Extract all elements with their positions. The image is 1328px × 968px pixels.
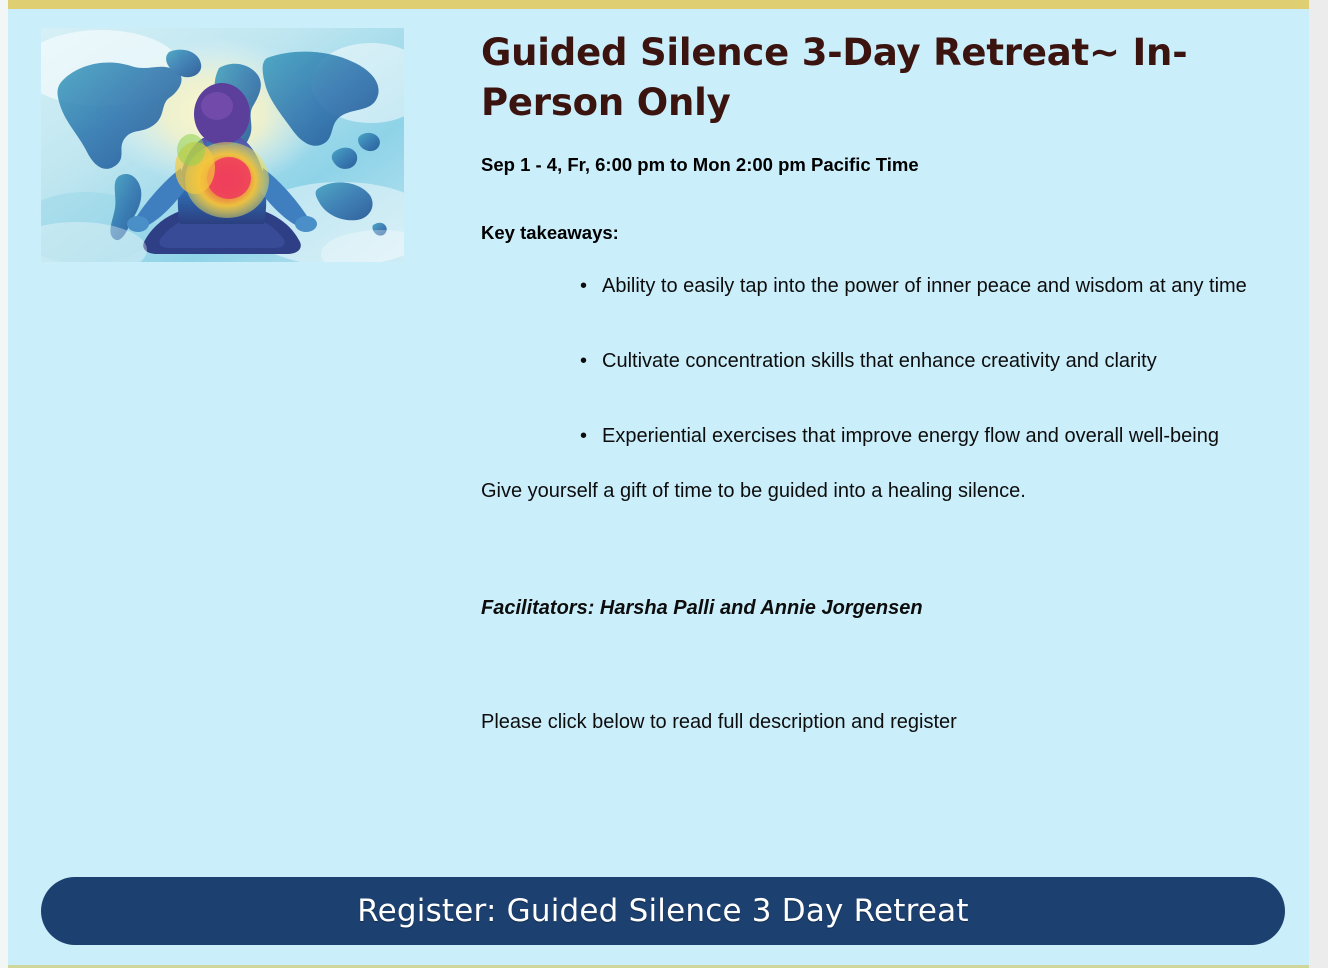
- list-item-text: Cultivate concentration skills that enha…: [602, 350, 1157, 372]
- event-dateline: Sep 1 - 4, Fr, 6:00 pm to Mon 2:00 pm Pa…: [481, 153, 1281, 177]
- event-content-column: Guided Silence 3-Day Retreat~ In-Person …: [481, 28, 1281, 736]
- click-below-note: Please click below to read full descript…: [481, 708, 1281, 736]
- list-item: • Experiential exercises that improve en…: [481, 417, 1281, 455]
- left-edge-strip: [0, 0, 8, 968]
- email-newsletter-page: Guided Silence 3-Day Retreat~ In-Person …: [0, 0, 1328, 968]
- bullet-icon: •: [580, 342, 587, 380]
- top-accent-bar: [8, 0, 1309, 9]
- register-button[interactable]: Register: Guided Silence 3 Day Retreat: [41, 877, 1285, 945]
- list-item: • Cultivate concentration skills that en…: [481, 342, 1281, 380]
- list-item-text: Ability to easily tap into the power of …: [602, 275, 1247, 297]
- facilitators-text: Facilitators: Harsha Palli and Annie Jor…: [481, 594, 1281, 622]
- right-edge-strip: [1309, 0, 1328, 968]
- bullet-icon: •: [580, 417, 587, 455]
- invitation-text: Give yourself a gift of time to be guide…: [481, 476, 1281, 507]
- meditation-world-map-watercolor-image: [41, 28, 404, 262]
- event-title: Guided Silence 3-Day Retreat~ In-Person …: [481, 28, 1281, 129]
- event-card: Guided Silence 3-Day Retreat~ In-Person …: [8, 9, 1309, 965]
- key-takeaways-label: Key takeaways:: [481, 221, 1281, 245]
- list-item: • Ability to easily tap into the power o…: [481, 267, 1281, 305]
- hero-image-container: [41, 28, 404, 262]
- bullet-icon: •: [580, 267, 587, 305]
- list-item-text: Experiential exercises that improve ener…: [602, 425, 1219, 447]
- key-takeaways-list: • Ability to easily tap into the power o…: [481, 267, 1281, 455]
